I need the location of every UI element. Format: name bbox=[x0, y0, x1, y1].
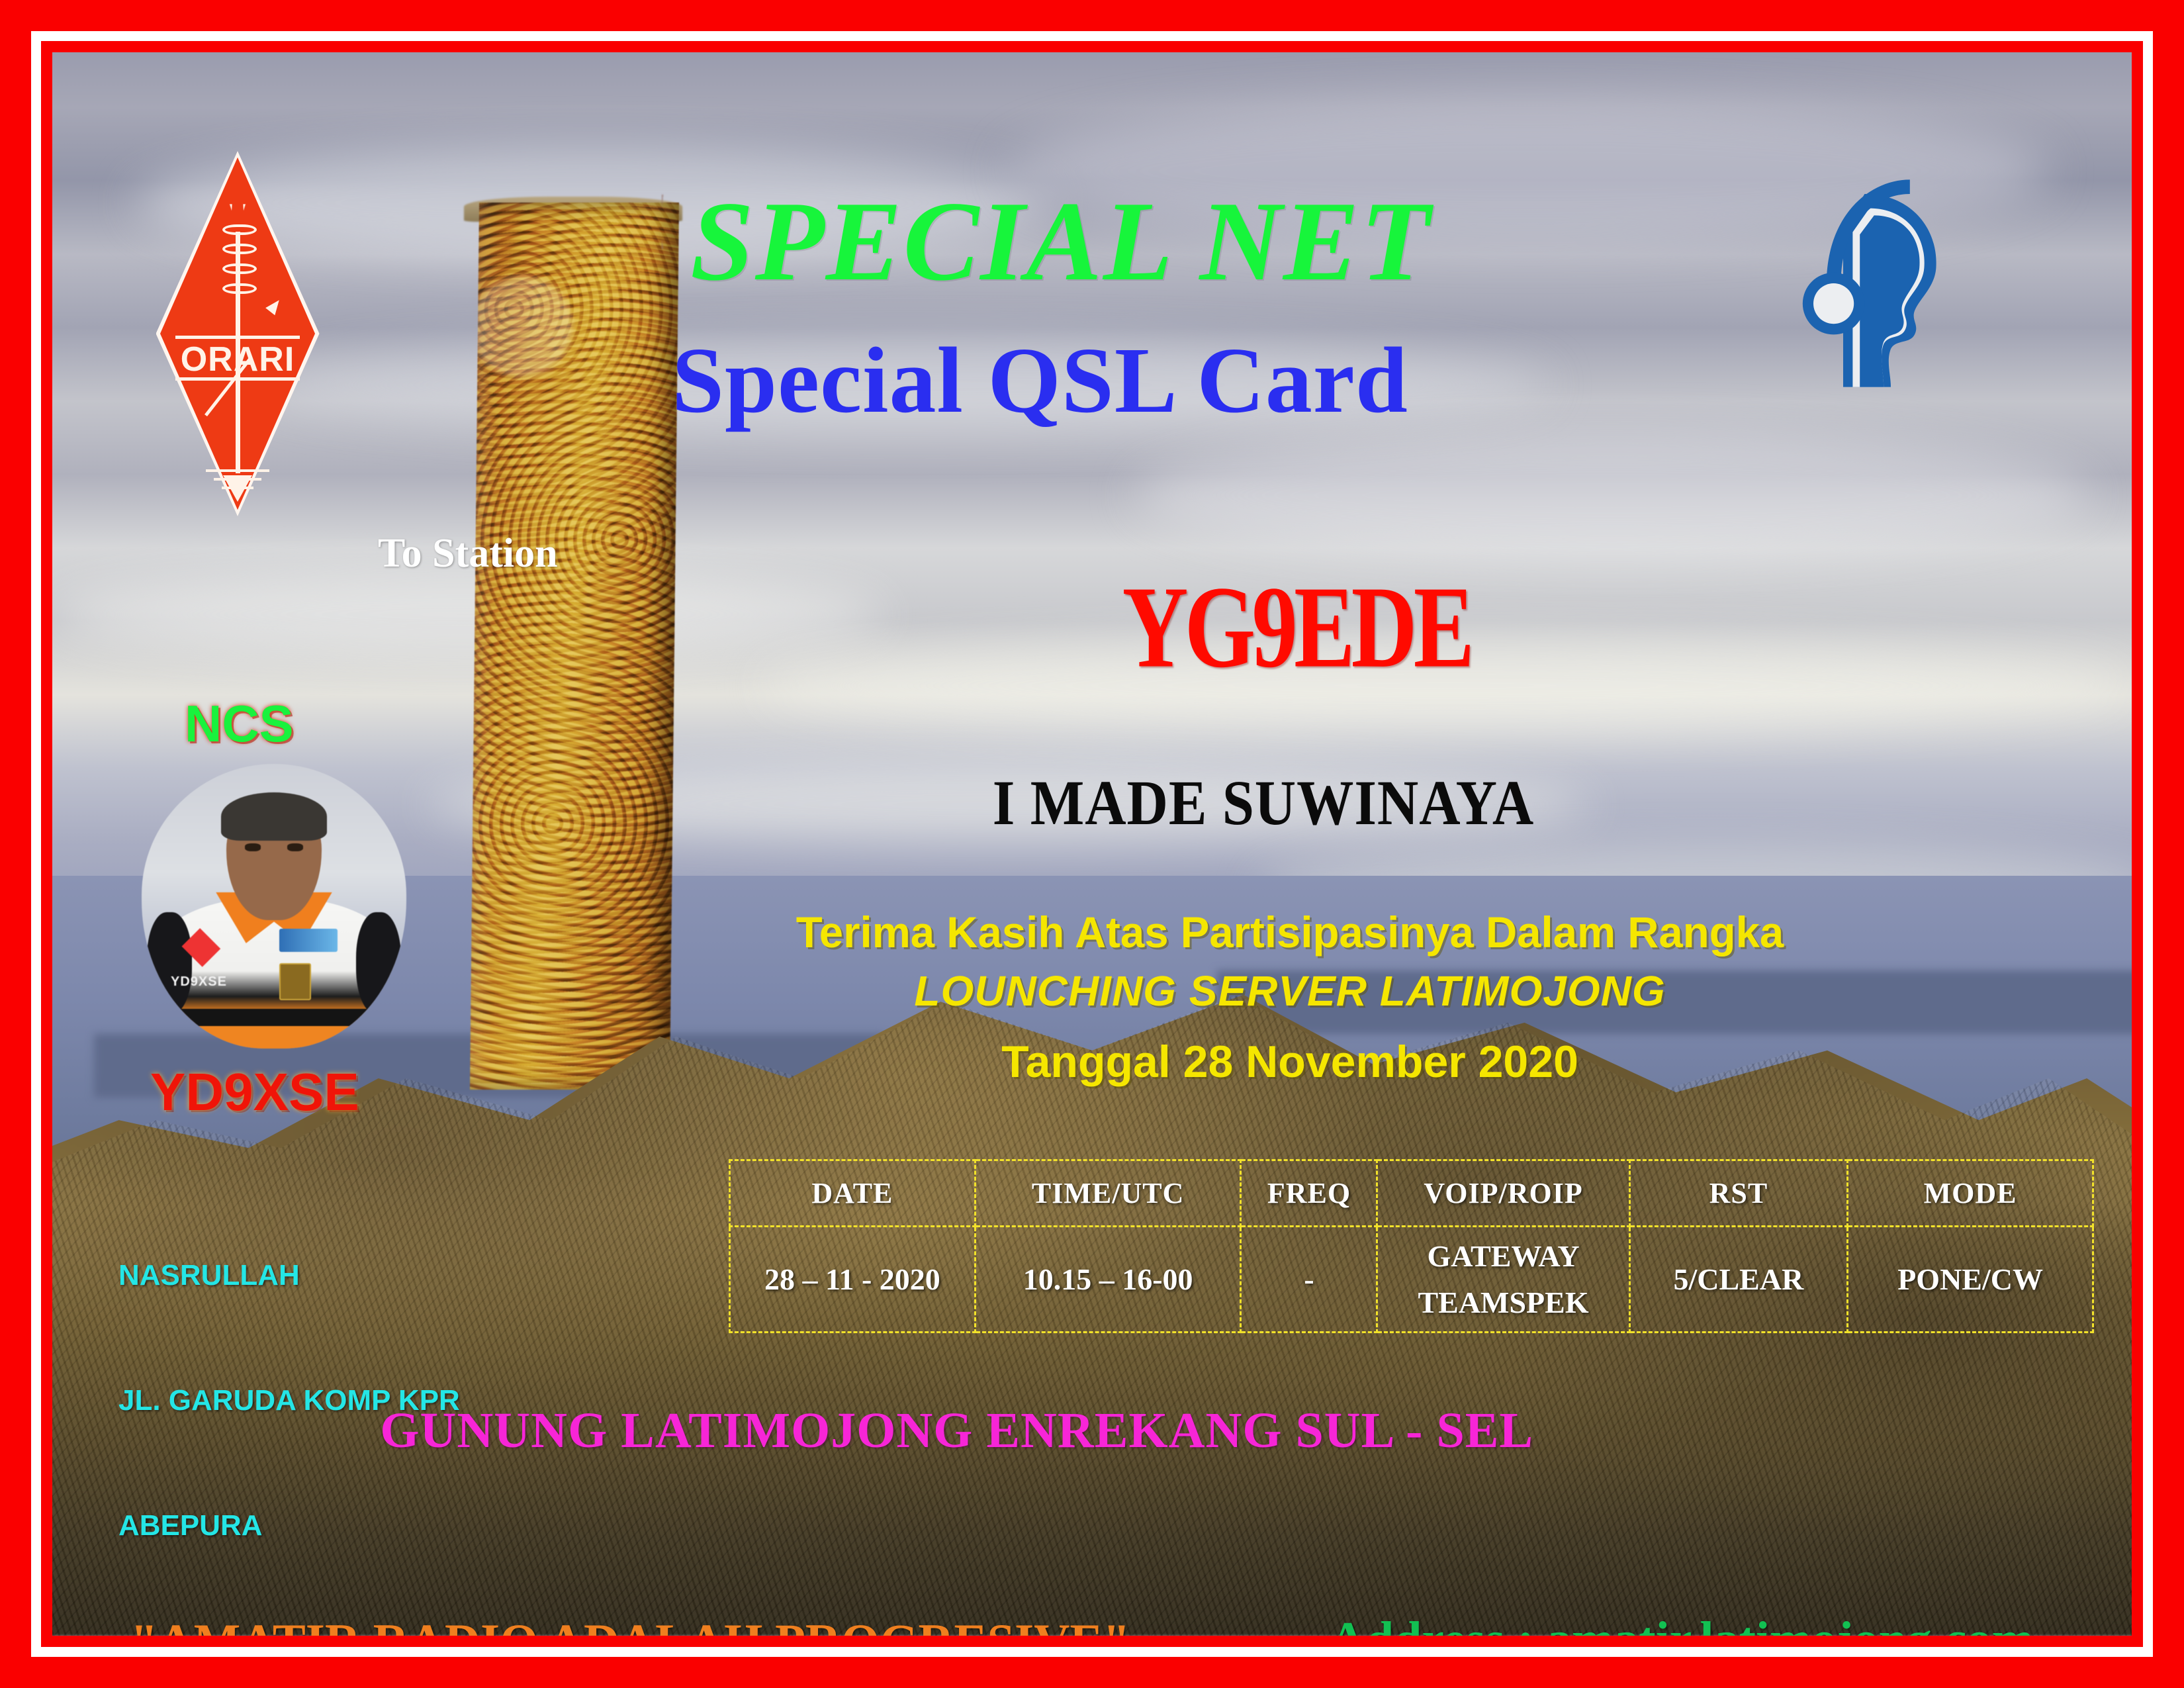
page-subtitle-special-qsl: Special QSL Card bbox=[52, 330, 2079, 430]
qsl-card-outer-frame: ORARI bbox=[0, 0, 2184, 1688]
operator-name: I MADE SUWINAYA bbox=[876, 769, 1651, 837]
orari-ground-triangle bbox=[223, 475, 252, 502]
avatar-id-badge bbox=[279, 963, 311, 1000]
qsl-card-inner-frame: ORARI bbox=[41, 41, 2143, 1647]
column-header-freq: FREQ bbox=[1241, 1160, 1377, 1227]
cell-freq: - bbox=[1241, 1227, 1377, 1333]
cell-voip-line2: TEAMSPEK bbox=[1378, 1280, 1628, 1326]
cell-rst: 5/CLEAR bbox=[1629, 1227, 1848, 1333]
column-header-time: TIME/UTC bbox=[975, 1160, 1241, 1227]
page-title-special-net: SPECIAL NET bbox=[52, 182, 2101, 301]
address-line: NASRULLAH bbox=[118, 1254, 569, 1296]
avatar-chest-emblem bbox=[279, 929, 338, 951]
event-location-line: GUNUNG LATIMOJONG ENREKANG SUL - SEL bbox=[52, 1401, 1997, 1460]
thanks-line: Terima Kasih Atas Partisipasinya Dalam R… bbox=[746, 908, 1833, 957]
avatar-eye-right bbox=[287, 843, 303, 851]
column-header-voip-roip: VOIP/ROIP bbox=[1377, 1160, 1629, 1227]
cell-time: 10.15 – 16-00 bbox=[975, 1227, 1241, 1333]
avatar-belt bbox=[163, 1009, 385, 1026]
avatar-sleeve-right bbox=[356, 912, 401, 1015]
avatar-hair bbox=[221, 792, 327, 841]
qsl-card-white-gap: ORARI bbox=[31, 31, 2153, 1657]
ncs-operator-avatar: YD9XSE bbox=[142, 764, 406, 1049]
ncs-callsign: YD9XSE bbox=[150, 1064, 359, 1121]
qsl-card-background-photo: ORARI bbox=[52, 52, 2132, 1636]
cell-mode: PONE/CW bbox=[1848, 1227, 2093, 1333]
cell-voip-line1: GATEWAY bbox=[1378, 1233, 1628, 1280]
cell-date: 28 – 11 - 2020 bbox=[730, 1227, 976, 1333]
column-header-rst: RST bbox=[1629, 1160, 1848, 1227]
footer-web-address: Address : amatir.latimojong.com bbox=[1330, 1611, 2034, 1636]
qso-log-table: DATE TIME/UTC FREQ VOIP/ROIP RST MODE 28… bbox=[729, 1159, 2094, 1333]
ncs-label: NCS bbox=[185, 696, 294, 751]
address-line: ABEPURA bbox=[118, 1505, 569, 1546]
avatar-eye-left bbox=[245, 843, 261, 851]
table-row: 28 – 11 - 2020 10.15 – 16-00 - GATEWAY T… bbox=[730, 1227, 2093, 1333]
station-callsign: YG9EDE bbox=[992, 569, 1601, 686]
event-date-line: Tanggal 28 November 2020 bbox=[741, 1036, 1839, 1088]
cell-voip-roip: GATEWAY TEAMSPEK bbox=[1377, 1227, 1629, 1333]
column-header-date: DATE bbox=[730, 1160, 976, 1227]
avatar-sleeve-left bbox=[147, 912, 192, 1015]
column-header-mode: MODE bbox=[1848, 1160, 2093, 1227]
avatar-shirt-callsign: YD9XSE bbox=[171, 974, 227, 990]
to-station-label: To Station bbox=[378, 530, 558, 577]
footer-motto: "AMATIR RADIO ADALAH PROGRESIVE" bbox=[130, 1613, 1130, 1636]
launch-event-line: LOUNCHING SERVER LATIMOJONG bbox=[741, 967, 1839, 1015]
table-header-row: DATE TIME/UTC FREQ VOIP/ROIP RST MODE bbox=[730, 1160, 2093, 1227]
